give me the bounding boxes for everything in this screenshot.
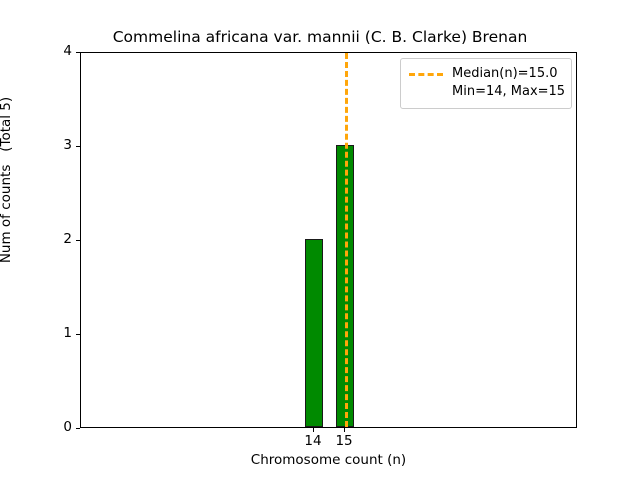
legend: Median(n)=15.0 Min=14, Max=15 bbox=[400, 58, 572, 109]
chart-title: Commelina africana var. mannii (C. B. Cl… bbox=[0, 28, 640, 46]
y-tick-mark bbox=[76, 428, 80, 429]
legend-entry-minmax: Min=14, Max=15 bbox=[409, 83, 563, 101]
plot-inner bbox=[81, 53, 576, 427]
y-tick-label: 4 bbox=[63, 45, 72, 59]
legend-label-minmax: Min=14, Max=15 bbox=[452, 84, 565, 100]
dashed-line-icon bbox=[409, 73, 443, 76]
legend-label-median: Median(n)=15.0 bbox=[452, 66, 558, 82]
x-tick-mark bbox=[344, 428, 345, 432]
y-tick-label: 2 bbox=[63, 233, 72, 247]
y-tick-label: 3 bbox=[63, 139, 72, 153]
legend-entry-median: Median(n)=15.0 bbox=[409, 65, 563, 83]
y-axis-label: Num of counts (Total 5) bbox=[0, 0, 14, 400]
x-axis-label: Chromosome count (n) bbox=[80, 452, 577, 468]
median-line bbox=[345, 53, 348, 427]
bar-14 bbox=[305, 239, 323, 427]
x-tick-label: 15 bbox=[324, 434, 364, 448]
chart-figure: Commelina africana var. mannii (C. B. Cl… bbox=[0, 0, 640, 480]
x-tick-mark bbox=[313, 428, 314, 432]
y-tick-label: 1 bbox=[63, 327, 72, 341]
y-tick-label: 0 bbox=[63, 421, 72, 435]
